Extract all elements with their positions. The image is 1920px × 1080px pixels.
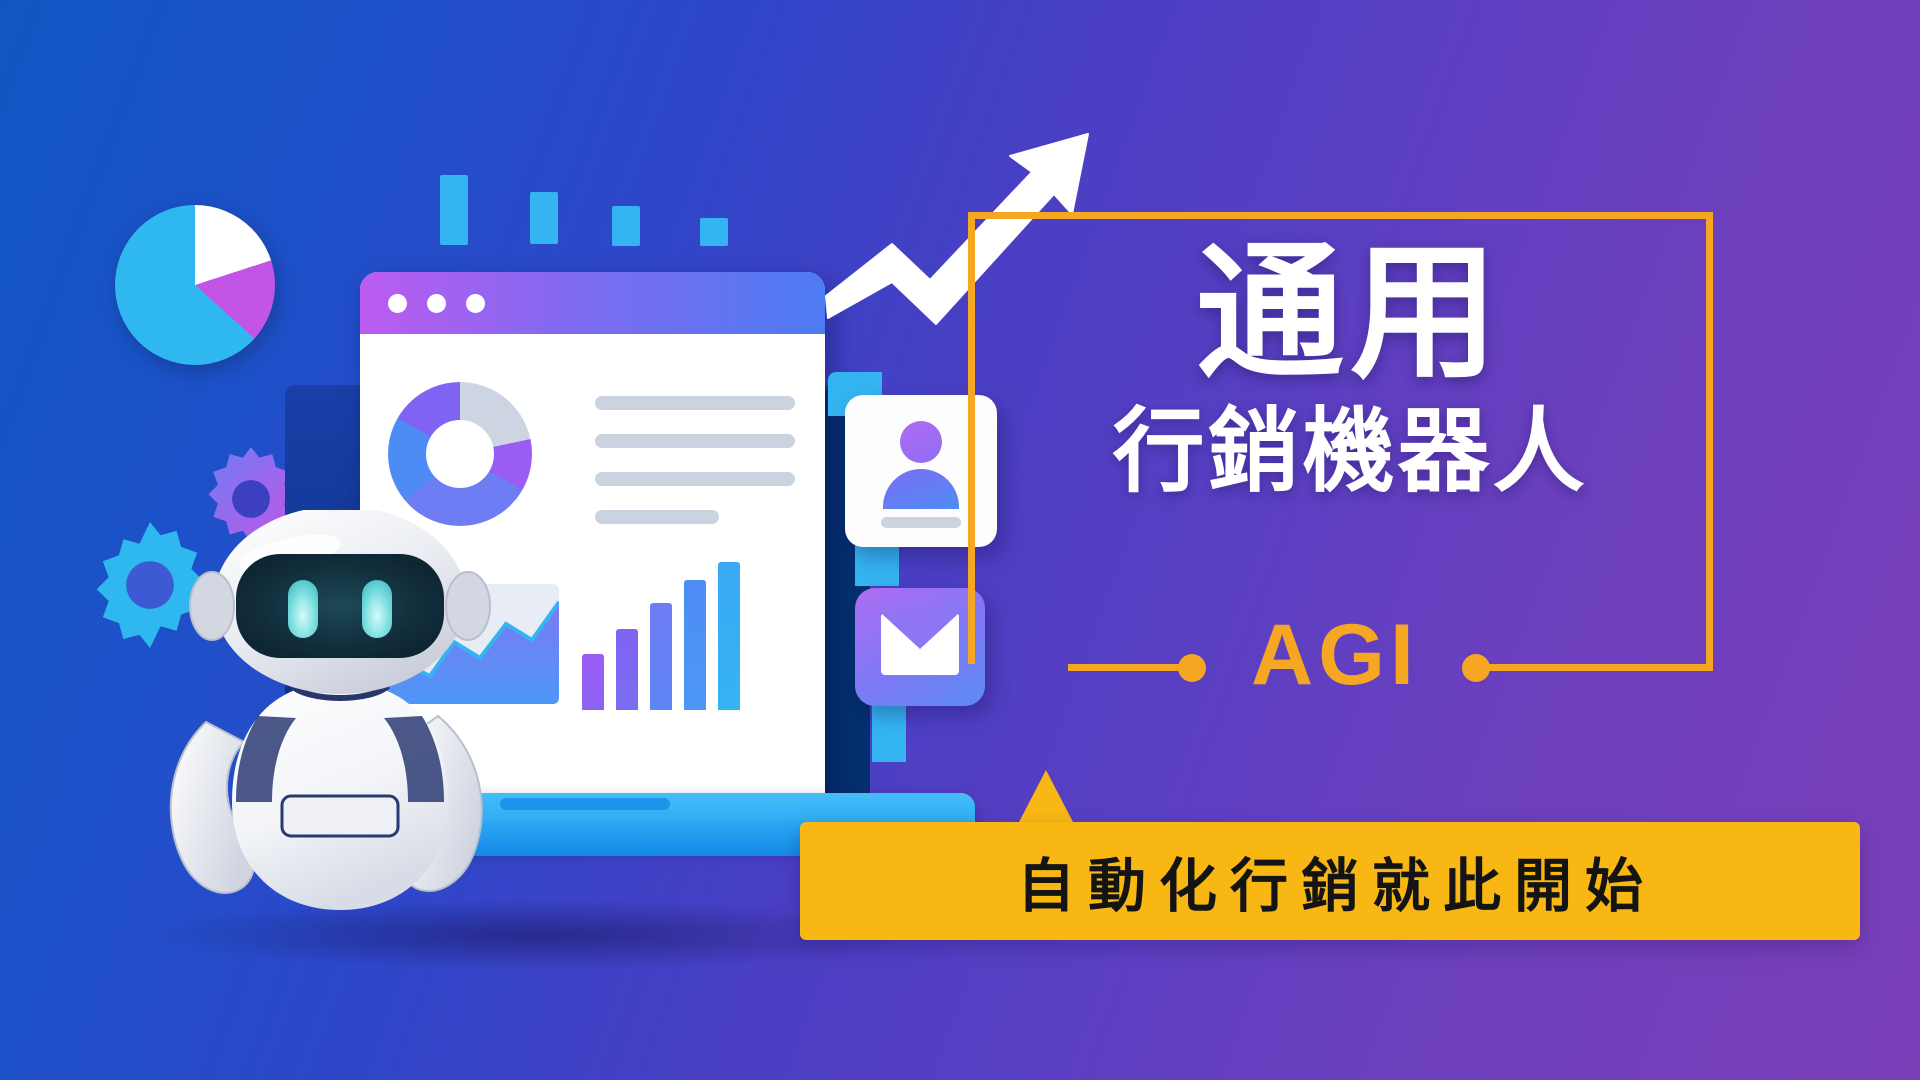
contact-avatar-head [900, 421, 942, 463]
frame-connector-right [1477, 664, 1713, 671]
marketing-banner: 通用 行銷機器人 AGI 自動化行銷就此開始 [0, 0, 1920, 1080]
acronym-label: AGI [1193, 612, 1477, 698]
placeholder-line [595, 396, 795, 410]
contact-avatar-body [883, 469, 959, 509]
bar-chart-icon [582, 562, 778, 710]
ribbon-notch [1018, 770, 1074, 824]
bar [582, 654, 604, 710]
bar [616, 629, 638, 710]
pie-chart-icon [115, 205, 275, 365]
decor-bar-3 [612, 206, 640, 246]
decor-bar-1 [440, 175, 468, 245]
text-placeholder-lines [595, 396, 795, 548]
frame-connector-left [1068, 664, 1193, 671]
donut-chart-icon [388, 382, 532, 526]
window-dot-close [388, 294, 407, 313]
placeholder-line [595, 510, 719, 524]
page-title: 通用 [1020, 236, 1680, 393]
decor-bar-4 [700, 218, 728, 246]
envelope-body [881, 613, 959, 675]
decor-bar-2 [530, 192, 558, 244]
bar [718, 562, 740, 710]
robot-mascot-icon [140, 510, 540, 930]
bar [650, 603, 672, 710]
browser-titlebar [360, 272, 825, 334]
headline-group: 通用 行銷機器人 [1020, 236, 1680, 506]
mail-accent-tab [872, 700, 906, 762]
frame-left-segment [968, 212, 975, 664]
tagline-text: 自動化行銷就此開始 [800, 822, 1860, 940]
pie-chart-slices [115, 205, 275, 365]
mail-envelope-icon [855, 588, 985, 706]
contact-name-placeholder [881, 517, 961, 528]
window-dot-maximize [466, 294, 485, 313]
bar [684, 580, 706, 710]
envelope-flap [881, 613, 959, 649]
placeholder-line [595, 434, 795, 448]
window-dot-minimize [427, 294, 446, 313]
frame-right-segment [1706, 212, 1713, 664]
page-subtitle: 行銷機器人 [1020, 399, 1680, 506]
placeholder-line [595, 472, 795, 486]
